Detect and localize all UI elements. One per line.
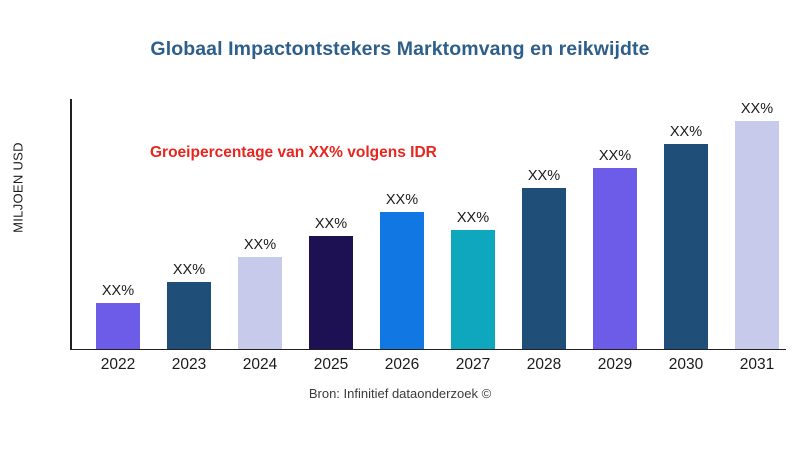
bar-2030[interactable] [664,144,708,349]
x-tick-2023: 2023 [150,356,228,374]
x-tick-2026: 2026 [363,356,441,374]
bar-2025[interactable] [309,236,353,349]
x-tick-2025: 2025 [292,356,370,374]
chart-title: Globaal Impactontstekers Marktomvang en … [0,38,800,61]
x-tick-2031: 2031 [718,356,796,374]
bar-2027[interactable] [451,230,495,349]
bar-2029[interactable] [593,168,637,349]
bar-2031[interactable] [735,121,779,349]
bar-2023[interactable] [167,282,211,349]
x-tick-2029: 2029 [576,356,654,374]
bar-value-label: XX% [154,262,224,278]
x-tick-2030: 2030 [647,356,725,374]
bar-value-label: XX% [722,101,792,117]
bar-value-label: XX% [509,168,579,184]
bar-2024[interactable] [238,257,282,349]
bar-value-label: XX% [438,210,508,226]
bar-value-label: XX% [83,283,153,299]
x-tick-2028: 2028 [505,356,583,374]
bar-value-label: XX% [580,148,650,164]
x-tick-2027: 2027 [434,356,512,374]
source-note: Bron: Infinitief dataonderzoek © [0,386,800,401]
bar-2022[interactable] [96,303,140,349]
bar-2026[interactable] [380,212,424,349]
y-axis-title: MILJOEN USD [11,88,26,288]
bar-value-label: XX% [296,216,366,232]
x-tick-2022: 2022 [79,356,157,374]
x-tick-2024: 2024 [221,356,299,374]
plot-area: XX%XX%XX%XX%XX%XX%XX%XX%XX%XX% [70,99,780,349]
bar-value-label: XX% [225,237,295,253]
bar-value-label: XX% [367,192,437,208]
bar-value-label: XX% [651,124,721,140]
chart-container: Globaal Impactontstekers Marktomvang en … [0,0,800,450]
bar-2028[interactable] [522,188,566,349]
growth-rate-annotation: Groeipercentage van XX% volgens IDR [150,144,437,162]
